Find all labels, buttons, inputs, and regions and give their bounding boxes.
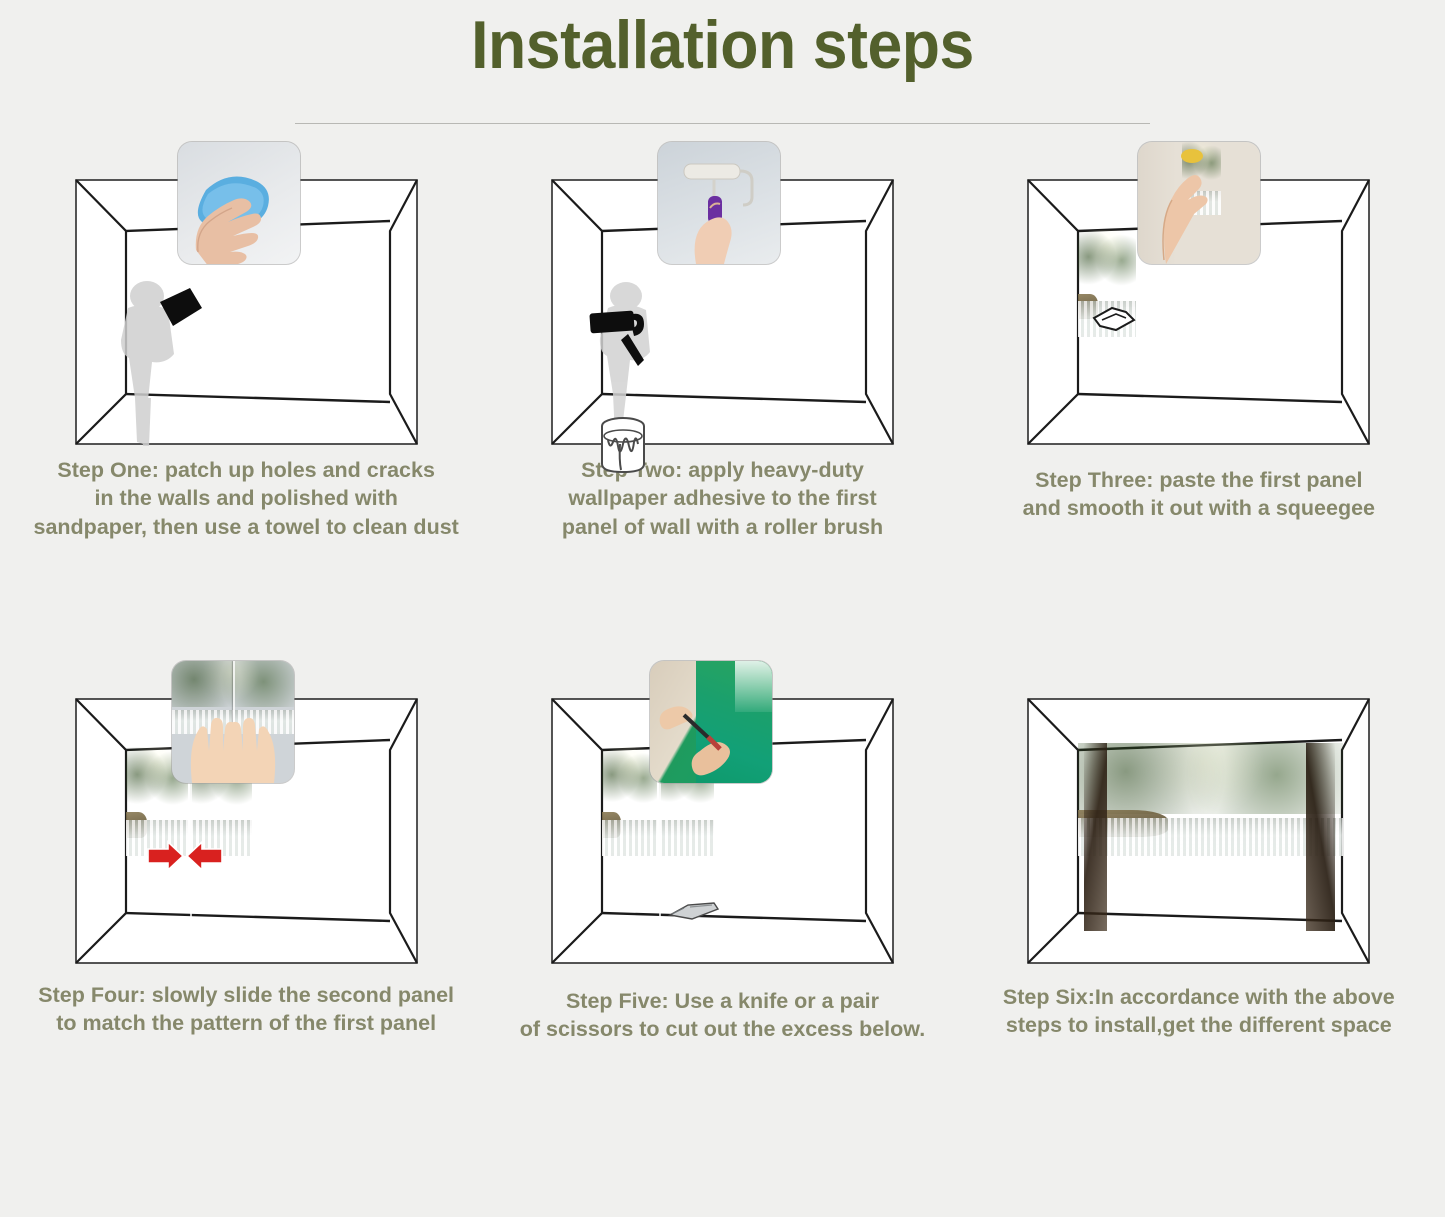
photo-thumbnail-trim-knife — [650, 661, 772, 783]
panel-align-arrows — [146, 839, 224, 873]
step-caption: Step Six:In accordance with the above st… — [1003, 983, 1395, 1040]
step-caption: Step Five: Use a knife or a pair of scis… — [520, 987, 925, 1044]
squeegee-icon — [1086, 280, 1142, 354]
photo-thumbnail-hand-cloth — [178, 142, 300, 264]
step-caption: Step Four: slowly slide the second panel… — [38, 981, 454, 1038]
step-card-six: Step Six:In accordance with the above st… — [961, 661, 1437, 1180]
page-title: Installation steps — [58, 8, 1387, 83]
step-card-four: Step Four: slowly slide the second panel… — [8, 661, 484, 1180]
room-illustration-three — [1026, 142, 1371, 442]
mural-full-wall — [1078, 743, 1343, 931]
room-illustration-five — [550, 661, 895, 961]
tree-trunk-right — [1306, 743, 1335, 931]
photo-thumbnail-roller — [658, 142, 780, 264]
hands-knife-illustration — [650, 661, 772, 783]
step-card-three: Step Three: paste the first panel and sm… — [961, 142, 1437, 661]
mural-panel-first — [602, 747, 657, 929]
hand-cloth-illustration — [178, 142, 300, 264]
room-illustration-one — [74, 142, 419, 442]
steps-grid: Step One: patch up holes and cracks in t… — [0, 124, 1445, 1184]
paint-roller-icon — [588, 302, 658, 378]
step-caption: Step Three: paste the first panel and sm… — [1023, 466, 1375, 523]
page-header: Installation steps — [0, 0, 1445, 124]
photo-thumbnail-align-hands — [172, 661, 294, 783]
arrow-left-icon — [187, 842, 222, 870]
step-card-one: Step One: patch up holes and cracks in t… — [8, 142, 484, 661]
room-illustration-four — [74, 661, 419, 961]
step-card-five: Step Five: Use a knife or a pair of scis… — [484, 661, 960, 1180]
two-hands-illustration — [172, 661, 294, 783]
step-caption: Step One: patch up holes and cracks in t… — [34, 456, 459, 542]
sponge-icon — [156, 286, 206, 328]
paint-bucket-icon — [596, 414, 650, 476]
step-card-two: Step Two: apply heavy-duty wallpaper adh… — [484, 142, 960, 661]
arrow-right-icon — [148, 842, 183, 870]
photo-thumbnail-paste-panel — [1138, 142, 1260, 264]
room-illustration-six — [1026, 661, 1371, 961]
roller-illustration — [658, 142, 780, 264]
room-illustration-two — [550, 142, 895, 442]
utility-knife-icon — [668, 899, 720, 925]
hand-illustration — [1138, 142, 1260, 264]
tree-trunk-left — [1084, 743, 1108, 931]
